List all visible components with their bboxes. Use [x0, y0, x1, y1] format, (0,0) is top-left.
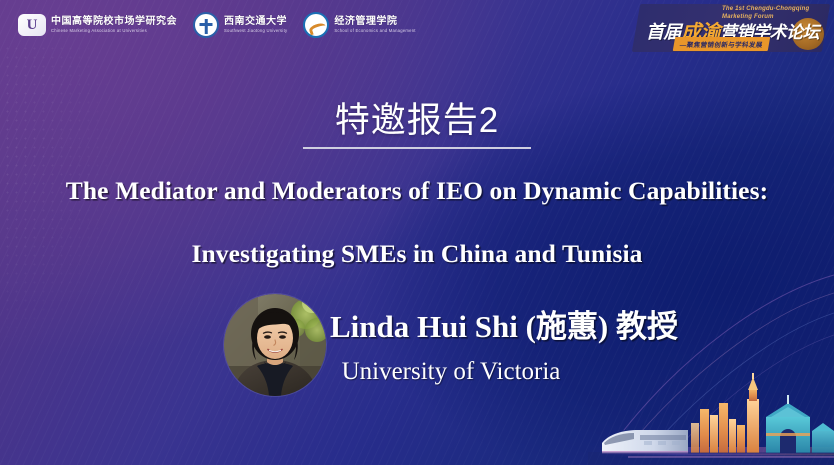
logo-label-en: School of Economics and Management: [334, 29, 415, 33]
forum-banner: The 1st Chengdu-Chongqing Marketing Foru…: [636, 4, 826, 52]
cma-monogram-icon: U: [18, 14, 46, 36]
forum-banner-subtitle: —聚焦营销创新与学科发展: [673, 37, 770, 51]
presentation-slide: U 中国高等院校市场学研究会 Chinese Marketing Associa…: [0, 0, 834, 465]
sem-crest-icon: [303, 12, 329, 38]
logo-label-cn: 西南交通大学: [224, 17, 287, 27]
section-title-wrap: 特邀报告2: [0, 92, 834, 150]
paper-title-line-2: Investigating SMEs in China and Tunisia: [0, 239, 834, 269]
section-title-underline: [303, 147, 531, 149]
paper-title-line-1: The Mediator and Moderators of IEO on Dy…: [0, 176, 834, 206]
logo-southwest-jiaotong-university: 西南交通大学 Southwest Jiaotong University: [193, 12, 287, 38]
logo-label-cn: 经济管理学院: [334, 17, 415, 27]
swjtu-crest-icon: [193, 12, 219, 38]
logo-label-en: Southwest Jiaotong University: [224, 29, 287, 33]
sponsor-logo-bar: U 中国高等院校市场学研究会 Chinese Marketing Associa…: [18, 12, 416, 38]
logo-school-of-economics-and-management: 经济管理学院 School of Economics and Managemen…: [303, 12, 415, 38]
speaker-affiliation: University of Victoria: [0, 358, 834, 386]
logo-label-en: Chinese Marketing Association at Univers…: [51, 29, 177, 33]
logo-text-block: 中国高等院校市场学研究会 Chinese Marketing Associati…: [51, 17, 177, 34]
background-texture: [0, 0, 834, 465]
section-title: 特邀报告2: [321, 92, 513, 150]
logo-text-block: 西南交通大学 Southwest Jiaotong University: [224, 17, 287, 34]
logo-text-block: 经济管理学院 School of Economics and Managemen…: [334, 17, 415, 34]
logo-label-cn: 中国高等院校市场学研究会: [51, 17, 177, 27]
logo-chinese-marketing-association: U 中国高等院校市场学研究会 Chinese Marketing Associa…: [18, 14, 177, 36]
chengdu-chongqing-skyline: [588, 373, 834, 465]
speaker-name: Linda Hui Shi (施蕙) 教授: [330, 301, 678, 346]
